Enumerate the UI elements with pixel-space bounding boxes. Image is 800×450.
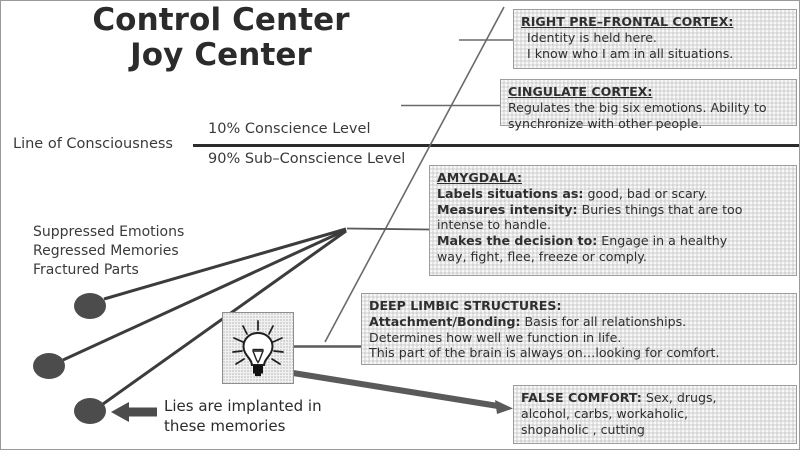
legend-regressed-memories: Regressed Memories	[33, 242, 184, 261]
conscience-level-label: 10% Conscience Level	[208, 121, 370, 137]
false-comfort-l2: alcohol, carbs, workaholic,	[521, 406, 789, 422]
left-node-legend: Suppressed Emotions Regressed Memories F…	[33, 223, 184, 280]
lies-arrow-icon	[111, 402, 157, 422]
deep-limbic-header: DEEP LIMBIC STRUCTURES:	[369, 298, 789, 314]
amygdala-l1-bold: Labels situations as:	[437, 186, 583, 201]
line-of-consciousness-label: Line of Consciousness	[13, 136, 173, 152]
false-comfort-l1-bold: FALSE COMFORT:	[521, 390, 642, 405]
amygdala-l3: intense to handle.	[437, 217, 789, 233]
amygdala-l1-rest: good, bad or scary.	[583, 186, 707, 201]
deep-limbic-l2: Determines how well we function in life.	[369, 330, 789, 346]
legend-fractured-parts: Fractured Parts	[33, 261, 184, 280]
amygdala-l2-rest: Buries things that are too	[578, 202, 743, 217]
lightbulb-panel	[222, 312, 294, 384]
suppressed-emotions-node	[74, 293, 106, 319]
lightbulb-icon	[223, 313, 293, 383]
cingulate-line-1: Regulates the big six emotions. Ability …	[508, 100, 789, 116]
title-line-1: Control Center	[41, 3, 401, 38]
lies-caption-line-2: these memories	[164, 417, 322, 437]
page-title: Control Center Joy Center	[41, 3, 401, 73]
amygdala-l2-bold: Measures intensity:	[437, 202, 578, 217]
lies-caption: Lies are implanted in these memories	[164, 397, 322, 437]
false-comfort-l1-rest: Sex, drugs,	[642, 390, 717, 405]
box-amygdala: AMYGDALA: Labels situations as: good, ba…	[429, 165, 797, 276]
amygdala-l4-bold: Makes the decision to:	[437, 233, 597, 248]
legend-suppressed-emotions: Suppressed Emotions	[33, 223, 184, 242]
rpfc-header: RIGHT PRE–FRONTAL CORTEX:	[521, 14, 789, 30]
diagram-canvas: Control Center Joy Center Line of Consci…	[0, 0, 800, 450]
box-right-prefrontal-cortex: RIGHT PRE–FRONTAL CORTEX: Identity is he…	[513, 9, 797, 69]
amygdala-l4-rest: Engage in a healthy	[597, 233, 727, 248]
box-deep-limbic-structures: DEEP LIMBIC STRUCTURES: Attachment/Bondi…	[361, 293, 797, 365]
rpfc-line-1: Identity is held here.	[521, 30, 657, 46]
amygdala-l5: way, fight, flee, freeze or comply.	[437, 249, 789, 265]
false-comfort-l3: shopaholic , cutting	[521, 422, 789, 438]
fractured-parts-node	[74, 398, 106, 424]
false-comfort-arrow-icon	[293, 373, 513, 414]
lies-caption-line-1: Lies are implanted in	[164, 397, 322, 417]
cingulate-header: CINGULATE CORTEX:	[508, 84, 789, 100]
deep-limbic-l1-bold: Attachment/Bonding:	[369, 314, 521, 329]
amygdala-header: AMYGDALA:	[437, 170, 789, 186]
connector-amygdala	[347, 229, 429, 230]
deep-limbic-l1-rest: Basis for all relationships.	[521, 314, 687, 329]
box-false-comfort: FALSE COMFORT: Sex, drugs, alcohol, carb…	[513, 385, 797, 444]
deep-limbic-l3: This part of the brain is always on…look…	[369, 345, 789, 361]
rpfc-line-2: I know who I am in all situations.	[521, 46, 733, 62]
sub-conscience-level-label: 90% Sub–Conscience Level	[208, 151, 405, 167]
title-line-2: Joy Center	[41, 38, 401, 73]
cingulate-line-2: synchronize with other people.	[508, 116, 789, 132]
regressed-memories-node	[33, 353, 65, 379]
box-cingulate-cortex: CINGULATE CORTEX: Regulates the big six …	[500, 79, 797, 126]
